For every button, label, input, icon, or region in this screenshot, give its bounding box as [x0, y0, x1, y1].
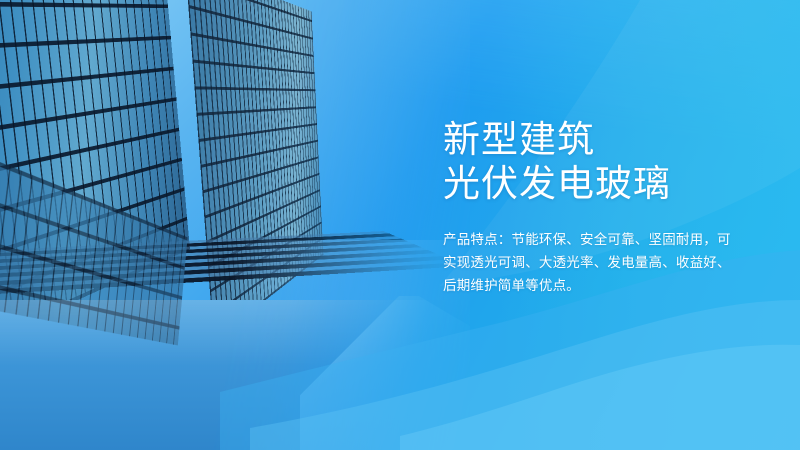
- promo-banner: 新型建筑 光伏发电玻璃 产品特点：节能环保、安全可靠、坚固耐用，可实现透光可调、…: [0, 0, 800, 450]
- banner-title-line-2: 光伏发电玻璃: [443, 162, 763, 206]
- text-block: 新型建筑 光伏发电玻璃 产品特点：节能环保、安全可靠、坚固耐用，可实现透光可调、…: [443, 118, 763, 297]
- banner-body-text: 产品特点：节能环保、安全可靠、坚固耐用，可实现透光可调、大透光率、发电量高、收益…: [443, 228, 743, 297]
- banner-title-line-1: 新型建筑: [443, 118, 763, 162]
